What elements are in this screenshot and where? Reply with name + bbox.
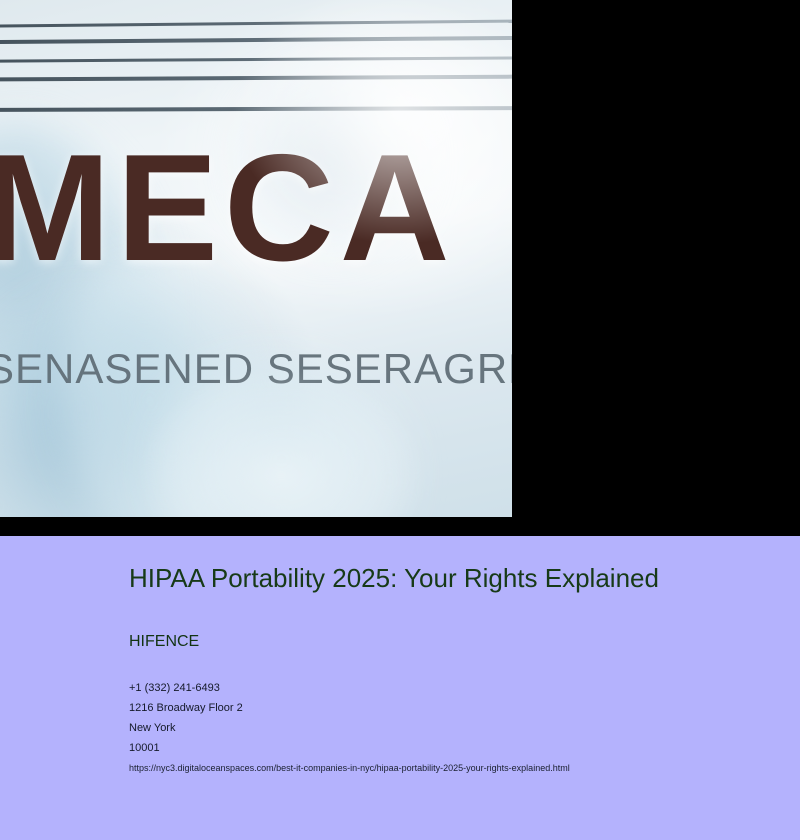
streak-line	[0, 36, 512, 44]
glove-blur-shape	[0, 280, 215, 517]
hero-stage: MECA SENASENED SESERAGRES	[0, 0, 800, 536]
streak-line	[0, 75, 512, 82]
streak-lines-group	[0, 0, 512, 130]
photo-wordmark: MECA	[0, 132, 456, 284]
contact-line: New York	[129, 718, 689, 738]
contact-line: 10001	[129, 738, 689, 758]
page-title: HIPAA Portability 2025: Your Rights Expl…	[129, 563, 669, 594]
streak-line	[0, 56, 512, 62]
source-url: https://nyc3.digitaloceanspaces.com/best…	[129, 762, 570, 775]
contact-line: +1 (332) 241-6493	[129, 678, 689, 698]
streak-line	[0, 19, 512, 27]
hero-photo: MECA SENASENED SESERAGRES	[0, 0, 512, 517]
company-name: HIFENCE	[129, 632, 199, 651]
streak-line	[0, 106, 512, 112]
contact-block: +1 (332) 241-64931216 Broadway Floor 2Ne…	[129, 678, 689, 758]
contact-line: 1216 Broadway Floor 2	[129, 698, 689, 718]
photo-subwordmark: SENASENED SESERAGRES	[0, 348, 512, 390]
info-card: HIPAA Portability 2025: Your Rights Expl…	[0, 536, 800, 840]
